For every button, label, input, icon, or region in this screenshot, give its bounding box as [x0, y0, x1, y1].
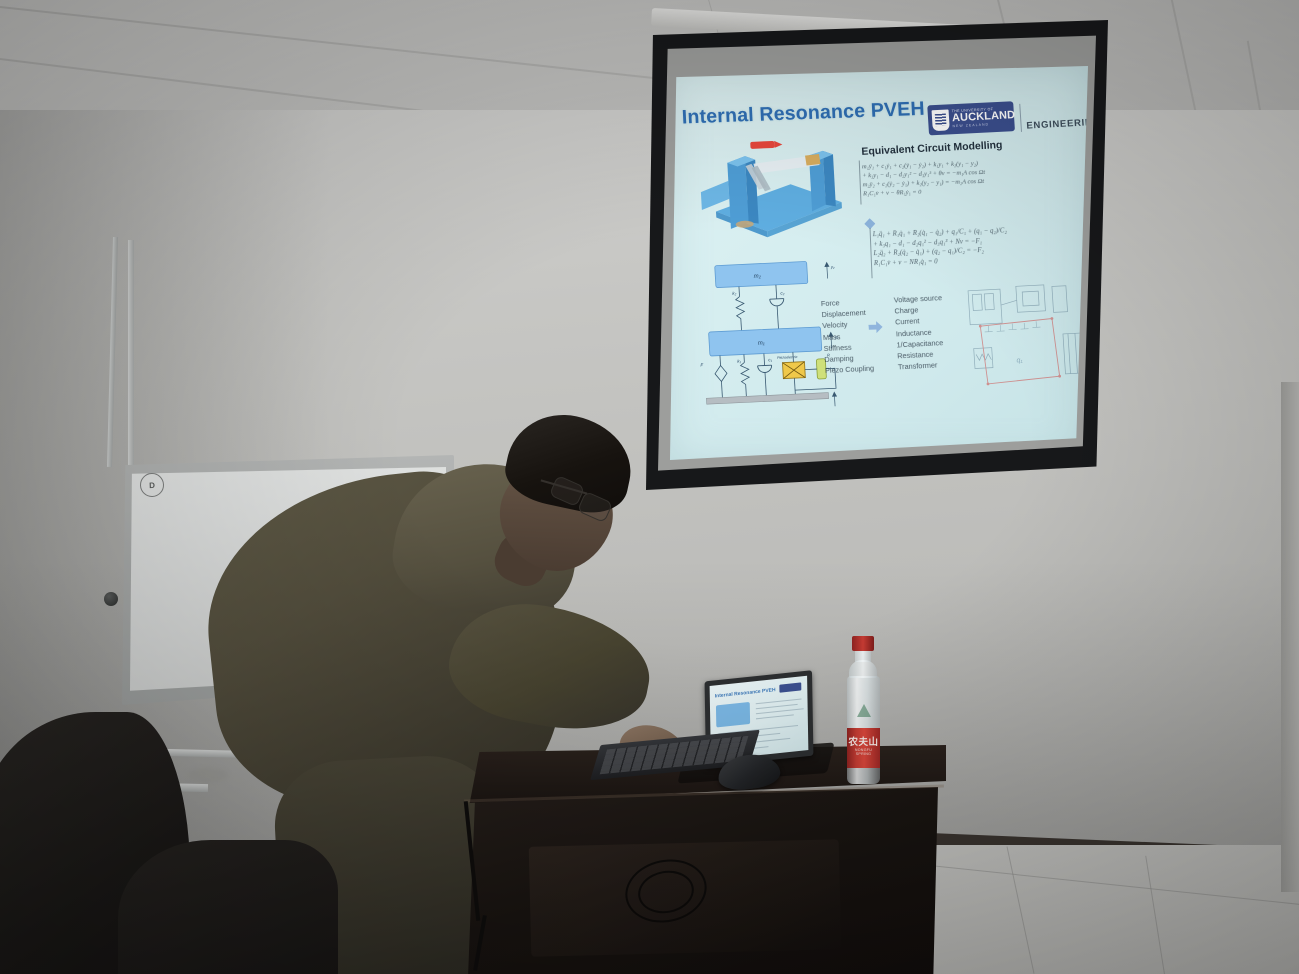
analogy-elec-0: Voltage source: [894, 292, 961, 304]
svg-text:c₁: c₁: [768, 357, 773, 362]
foreground-dark-coat-2: [118, 840, 338, 974]
analogy-elec-4: 1/Capacitance: [896, 337, 963, 349]
equation-group-2: L₁q̈₁ + R₁q̇₁ + R₂(q̇₁ − q̇₂) + q₁/C₁ + …: [873, 226, 1009, 268]
analogy-table: Force Voltage source Displacement Charge…: [821, 292, 966, 375]
slide-title: Internal Resonance PVEH: [681, 98, 925, 130]
laptop-screen-figure: [716, 702, 750, 728]
slide-subtitle: Equivalent Circuit Modelling: [861, 139, 1003, 158]
equation-group-1: m₁ÿ₁ + c₁ẏ₁ + c₂(ẏ₁ − ẏ₂) + k₁y₁ + k₂(y₁…: [862, 159, 986, 199]
analogy-mech-0: Force: [821, 296, 888, 308]
analogy-mech-2: Velocity: [822, 318, 889, 330]
svg-text:k₁: k₁: [737, 359, 742, 364]
cad-rig-render: [692, 132, 850, 250]
bottle-label: 农夫山 NONGFU SPRING: [847, 728, 880, 768]
laptop-screen-title: Internal Resonance PVEH: [715, 687, 776, 699]
logo-divider: [1019, 104, 1022, 132]
svg-text:F: F: [700, 362, 703, 367]
whiteboard-stand-post-right: [128, 240, 134, 465]
logo-line-3: NEW ZEALAND: [953, 122, 1016, 129]
analogy-mech-6: Piezo Coupling: [825, 363, 892, 375]
analogy-elec-1: Charge: [894, 303, 961, 315]
svg-text:c₂: c₂: [780, 290, 785, 295]
analogy-mech-1: Displacement: [821, 307, 888, 319]
lecture-room-photo: Internal Resonance PVEH THE UNIVERSITY O…: [0, 0, 1299, 974]
svg-text:m₁: m₁: [758, 340, 765, 346]
wall-pillar-right: [1281, 382, 1299, 892]
svg-text:y₂: y₂: [830, 264, 835, 269]
bottle-neck: [855, 650, 871, 662]
bottle-brand-sub: NONGFU SPRING: [847, 748, 880, 756]
faculty-label: ENGINEERING: [1026, 117, 1088, 132]
svg-text:m₂: m₂: [754, 274, 762, 280]
whiteboard-height-knob[interactable]: [104, 592, 118, 606]
analogy-elec-3: Inductance: [896, 326, 963, 338]
projection-screen: Internal Resonance PVEH THE UNIVERSITY O…: [646, 8, 1116, 503]
bottle-brand-cn: 农夫山: [847, 734, 880, 748]
analogy-elec-6: Transformer: [898, 359, 965, 371]
analogy-mech-5: Damping: [824, 352, 891, 364]
university-crest-icon: [932, 109, 950, 131]
analogy-mech-3: Mass: [823, 329, 890, 341]
equivalent-circuit-schematic: q₁: [963, 275, 1088, 403]
svg-text:k₂: k₂: [732, 291, 737, 296]
bottle-shoulder: [849, 660, 877, 678]
bottle-mountain-logo-icon: [857, 704, 871, 717]
university-logo: THE UNIVERSITY OF AUCKLAND NEW ZEALAND: [927, 101, 1015, 135]
bottle-cap[interactable]: [852, 636, 874, 651]
svg-text:q₁: q₁: [1016, 357, 1023, 364]
svg-text:Piezoelectric: Piezoelectric: [777, 355, 798, 360]
floor: [900, 845, 1299, 974]
analogy-elec-5: Resistance: [897, 348, 964, 360]
projected-slide: Internal Resonance PVEH THE UNIVERSITY O…: [670, 66, 1088, 462]
laptop-screen-logo-icon: [779, 682, 801, 692]
analogy-mech-4: Stiffness: [823, 341, 890, 353]
water-bottle[interactable]: 农夫山 NONGFU SPRING: [843, 636, 887, 786]
analogy-elec-2: Current: [895, 315, 962, 327]
